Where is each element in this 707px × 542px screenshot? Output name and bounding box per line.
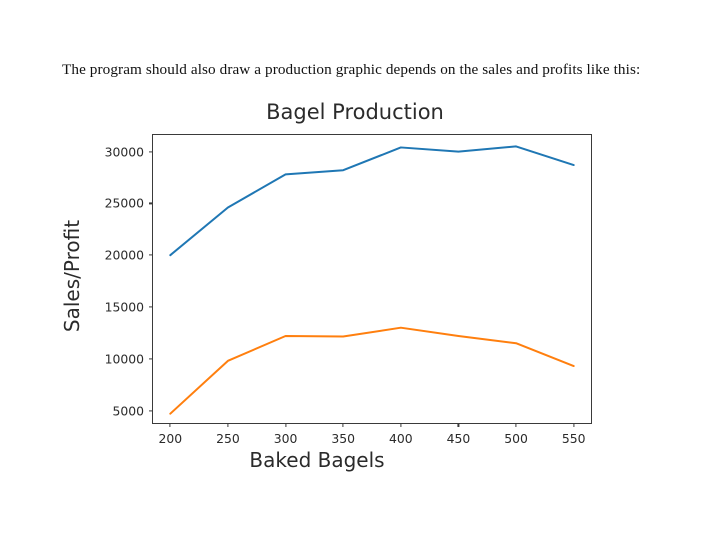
x-tick-mark (227, 423, 228, 427)
x-tick-mark (400, 423, 401, 427)
y-tick-mark (149, 358, 153, 359)
y-tick-mark (149, 203, 153, 204)
x-axis-label: Baked Bagels (152, 448, 482, 472)
x-tick-mark (170, 423, 171, 427)
x-tick-label: 300 (274, 431, 298, 446)
line-series-sales (170, 146, 573, 255)
x-tick-mark (458, 423, 459, 427)
x-tick-label: 250 (216, 431, 240, 446)
document-page: The program should also draw a productio… (0, 0, 707, 542)
y-tick-mark (149, 306, 153, 307)
y-tick-mark (149, 255, 153, 256)
y-tick-mark (149, 151, 153, 152)
y-tick-label: 20000 (105, 248, 153, 263)
y-tick-label: 5000 (112, 403, 153, 418)
y-tick-label: 30000 (105, 144, 153, 159)
y-tick-label: 25000 (105, 196, 153, 211)
y-tick-label: 15000 (105, 299, 153, 314)
chart-figure: Bagel Production Sales/Profit Baked Bage… (40, 96, 670, 496)
caption-text: The program should also draw a productio… (62, 59, 674, 81)
x-tick-label: 350 (331, 431, 355, 446)
x-tick-mark (573, 423, 574, 427)
line-series-profit (170, 328, 573, 414)
x-tick-label: 400 (389, 431, 413, 446)
line-series-group (153, 135, 591, 423)
x-tick-mark (343, 423, 344, 427)
y-tick-label: 10000 (105, 351, 153, 366)
y-tick-mark (149, 410, 153, 411)
plot-area: 5000100001500020000250003000020025030035… (152, 134, 592, 424)
x-tick-mark (285, 423, 286, 427)
chart-title: Bagel Production (40, 100, 670, 124)
x-tick-label: 550 (562, 431, 586, 446)
y-axis-label: Sales/Profit (60, 196, 84, 356)
x-tick-label: 450 (447, 431, 471, 446)
x-tick-mark (515, 423, 516, 427)
x-tick-label: 500 (504, 431, 528, 446)
x-tick-label: 200 (158, 431, 182, 446)
